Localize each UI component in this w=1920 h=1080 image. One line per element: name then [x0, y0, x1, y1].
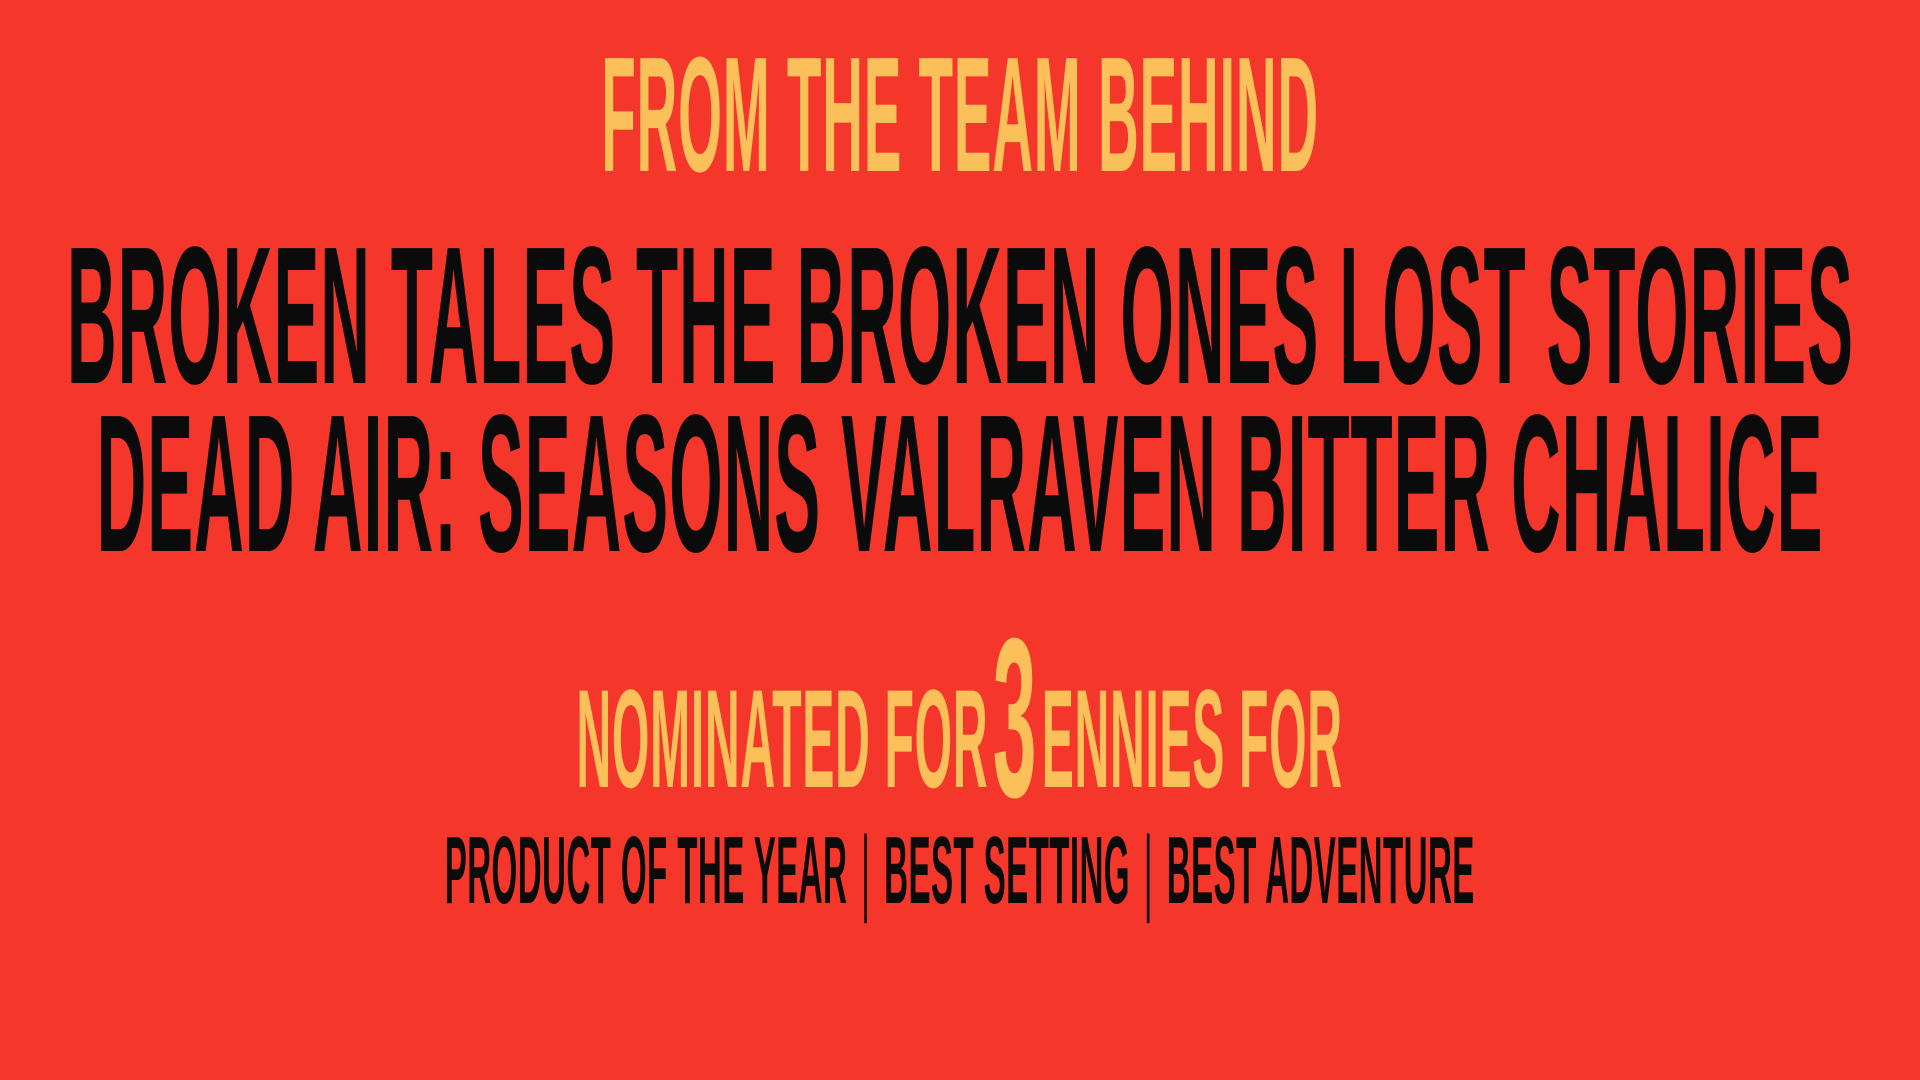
award-separator-2: |: [1130, 832, 1167, 911]
titles-row-1: BROKEN TALES THE BROKEN ONES LOST STORIE…: [0, 238, 1920, 390]
nomination-suffix: ENNIES FOR: [1042, 660, 1343, 817]
award-best-adventure: BEST ADVENTURE: [1167, 817, 1475, 924]
awards-text: PRODUCT OF THE YEAR|BEST SETTING|BEST AD…: [445, 832, 1475, 911]
nomination-prefix: NOMINATED FOR: [577, 660, 989, 817]
award-product-of-the-year: PRODUCT OF THE YEAR: [445, 817, 848, 924]
titles-line-2-text: DEAD AIR: SEASONS VALRAVEN BITTER CHALIC…: [97, 406, 1824, 563]
eyebrow-row: FROM THE TEAM BEHIND: [0, 46, 1920, 186]
titles-line-1-text: BROKEN TALES THE BROKEN ONES LOST STORIE…: [67, 238, 1854, 395]
award-separator-1: |: [848, 832, 885, 911]
titles-row-2: DEAD AIR: SEASONS VALRAVEN BITTER CHALIC…: [0, 406, 1920, 558]
eyebrow-text: FROM THE TEAM BEHIND: [601, 46, 1319, 184]
promo-banner: FROM THE TEAM BEHIND BROKEN TALES THE BR…: [0, 0, 1920, 1080]
ennies-count: 3: [989, 649, 1042, 790]
award-best-setting: BEST SETTING: [884, 817, 1130, 924]
awards-row: PRODUCT OF THE YEAR|BEST SETTING|BEST AD…: [0, 832, 1920, 906]
nomination-text: NOMINATED FOR3ENNIES FOR: [577, 640, 1343, 799]
nomination-row: NOMINATED FOR3ENNIES FOR: [0, 640, 1920, 776]
